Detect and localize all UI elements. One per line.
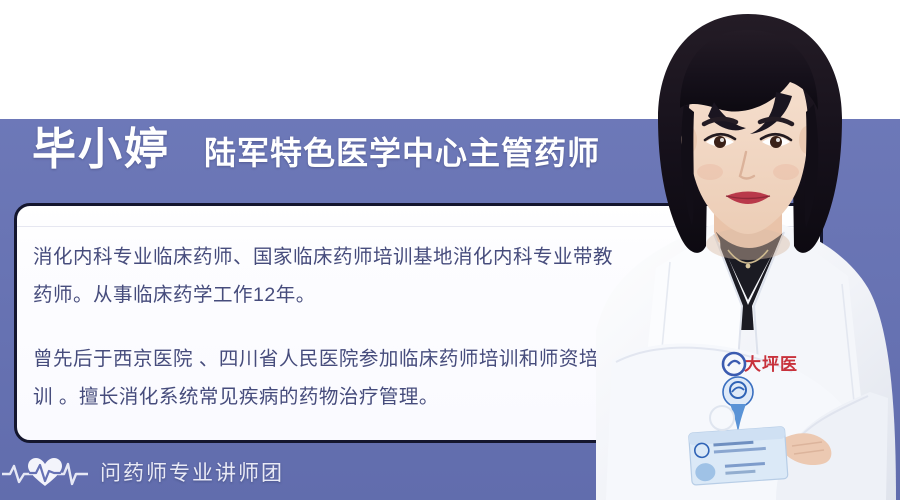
poster-root: 毕小婷 陆军特色医学中心主管药师 消化内科专业临床药师、国家临床药师培训基地消化…	[0, 0, 900, 500]
doctor-name: 毕小婷	[32, 128, 170, 172]
footer-bar: 问药师专业讲师团	[0, 443, 900, 500]
card-hairline	[17, 226, 820, 227]
heart-ecg-icon	[2, 452, 88, 492]
bio-paragraph-2: 曾先后于西京医院 、四川省人民医院参加临床药师培训和师资培训 。擅长消化系统常见…	[33, 340, 613, 416]
header-name-row: 毕小婷 陆军特色医学中心主管药师	[32, 128, 600, 188]
bio-text-block: 消化内科专业临床药师、国家临床药师培训基地消化内科专业带教药师。从事临床药学工作…	[33, 238, 613, 416]
footer-brand-label: 问药师专业讲师团	[100, 457, 284, 487]
bio-paragraph-1: 消化内科专业临床药师、国家临床药师培训基地消化内科专业带教药师。从事临床药学工作…	[33, 238, 613, 314]
bio-card: 消化内科专业临床药师、国家临床药师培训基地消化内科专业带教药师。从事临床药学工作…	[14, 203, 823, 443]
doctor-title: 陆军特色医学中心主管药师	[204, 137, 600, 169]
